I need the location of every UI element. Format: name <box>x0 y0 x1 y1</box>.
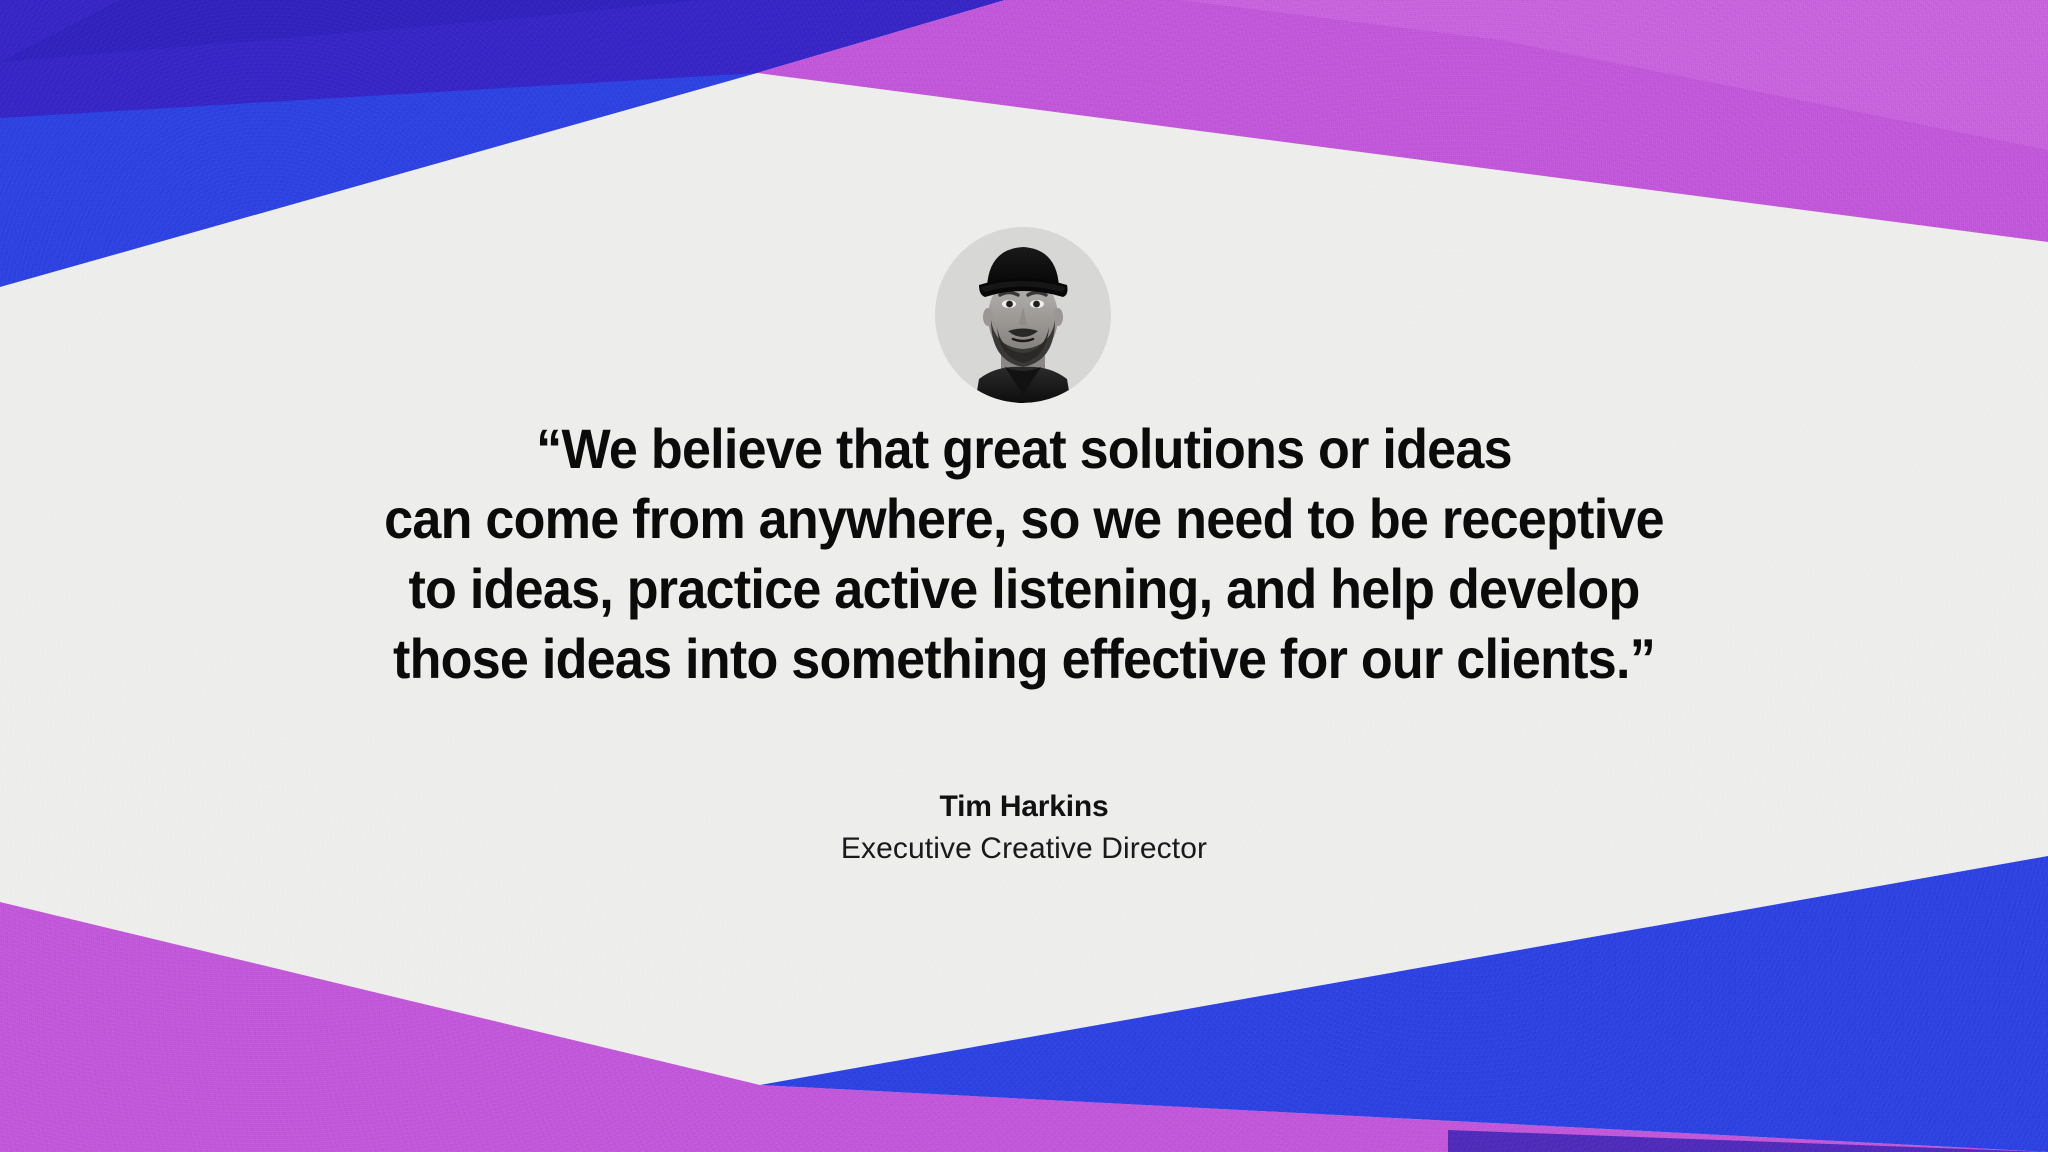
quote-text: “We believe that great solutions or idea… <box>72 414 1977 694</box>
attribution-role: Executive Creative Director <box>0 829 2048 869</box>
testimonial-content: “We believe that great solutions or idea… <box>0 0 2048 1152</box>
quote-line-3: to ideas, practice active listening, and… <box>408 557 1639 620</box>
quote-line-2: can come from anywhere, so we need to be… <box>384 487 1664 550</box>
quote-line-1: “We believe that great solutions or idea… <box>536 417 1512 480</box>
attribution-name: Tim Harkins <box>0 788 2048 826</box>
testimonial-slide: “We believe that great solutions or idea… <box>0 0 2048 1152</box>
avatar <box>935 227 1111 403</box>
quote-line-4: those ideas into something effective for… <box>393 627 1655 690</box>
portrait-photo-icon <box>935 227 1111 403</box>
attribution: Tim Harkins Executive Creative Director <box>0 788 2048 869</box>
